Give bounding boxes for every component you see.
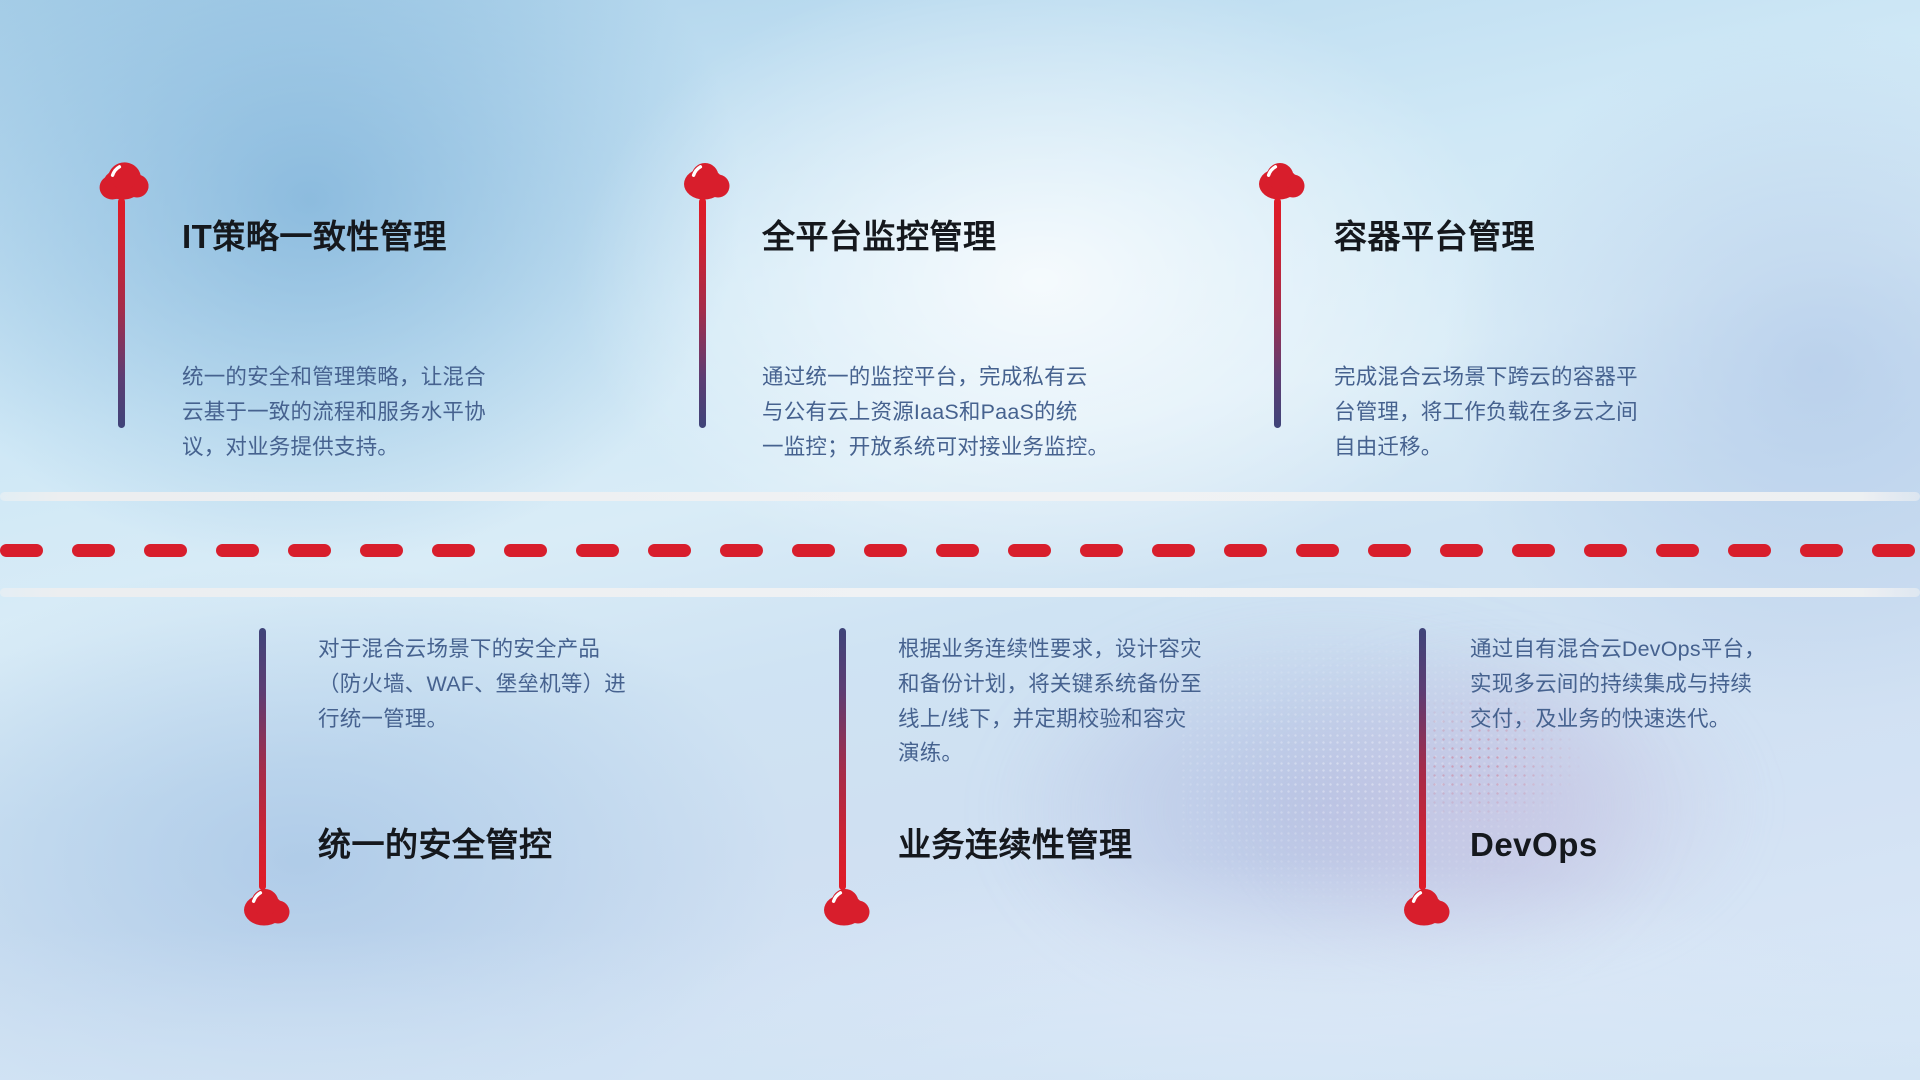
bottom-column-body: 根据业务连续性要求，设计容灾 和备份计划，将关键系统备份至 线上/线下，并定期校…	[898, 632, 1323, 771]
dash-segment	[1872, 544, 1915, 557]
dash-segment	[576, 544, 619, 557]
divider-upper-rule	[0, 492, 1920, 501]
dash-segment	[288, 544, 331, 557]
dash-segment	[864, 544, 907, 557]
top-column-body: 完成混合云场景下跨云的容器平 台管理，将工作负载在多云之间 自由迁移。	[1334, 360, 1774, 464]
cloud-icon	[237, 886, 291, 926]
bottom-column-heading: DevOps	[1470, 825, 1598, 865]
cloud-icon	[96, 160, 150, 200]
dash-segment	[432, 544, 475, 557]
infographic-canvas: IT策略一致性管理 统一的安全和管理策略，让混合 云基于一致的流程和服务水平协 …	[0, 0, 1920, 1080]
connector-line	[259, 628, 266, 890]
divider-dashed-line	[0, 544, 1920, 557]
top-column-body: 通过统一的监控平台，完成私有云 与公有云上资源IaaS和PaaS的统 一监控；开…	[762, 360, 1212, 464]
bottom-column-heading: 业务连续性管理	[898, 825, 1133, 865]
cloud-icon	[1252, 160, 1306, 200]
connector-line	[699, 198, 706, 428]
dash-segment	[72, 544, 115, 557]
background-glow-top-center	[540, 0, 1540, 620]
dash-segment	[936, 544, 979, 557]
dash-segment	[1368, 544, 1411, 557]
dash-segment	[792, 544, 835, 557]
top-column-heading: 容器平台管理	[1334, 217, 1535, 257]
top-column-body: 统一的安全和管理策略，让混合 云基于一致的流程和服务水平协 议，对业务提供支持。	[182, 360, 612, 464]
dash-segment	[504, 544, 547, 557]
dash-segment	[1440, 544, 1483, 557]
divider-lower-rule	[0, 588, 1920, 597]
bottom-column-body: 通过自有混合云DevOps平台， 实现多云间的持续集成与持续 交付，及业务的快速…	[1470, 632, 1890, 736]
connector-line	[1274, 198, 1281, 428]
dash-segment	[1584, 544, 1627, 557]
top-column-heading: IT策略一致性管理	[182, 217, 447, 257]
dash-segment	[720, 544, 763, 557]
dash-segment	[360, 544, 403, 557]
dash-segment	[1224, 544, 1267, 557]
dash-segment	[648, 544, 691, 557]
dash-segment	[216, 544, 259, 557]
bottom-column-body: 对于混合云场景下的安全产品 （防火墙、WAF、堡垒机等）进 行统一管理。	[318, 632, 738, 736]
top-column-heading: 全平台监控管理	[762, 217, 997, 257]
connector-line	[118, 198, 125, 428]
cloud-icon	[817, 886, 871, 926]
dash-segment	[1152, 544, 1195, 557]
cloud-icon	[677, 160, 731, 200]
dash-segment	[1296, 544, 1339, 557]
connector-line	[839, 628, 846, 890]
cloud-icon	[1397, 886, 1451, 926]
dash-segment	[1080, 544, 1123, 557]
dash-segment	[144, 544, 187, 557]
dash-segment	[1008, 544, 1051, 557]
dash-segment	[1512, 544, 1555, 557]
dash-segment	[0, 544, 43, 557]
dash-segment	[1800, 544, 1843, 557]
connector-line	[1419, 628, 1426, 890]
background-fade-bottom	[0, 930, 1920, 1080]
dash-segment	[1728, 544, 1771, 557]
dash-segment	[1656, 544, 1699, 557]
bottom-column-heading: 统一的安全管控	[318, 825, 553, 865]
